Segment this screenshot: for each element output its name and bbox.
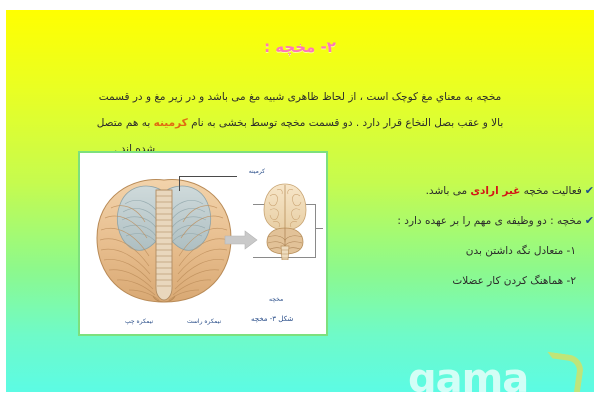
bullet-1-before: فعالیت مخچه — [520, 185, 581, 197]
watermark-text: gama — [408, 356, 528, 392]
points-list: ✔ فعالیت مخچه غیر ارادی می باشد. ✔ مخچه … — [336, 176, 594, 296]
numbered-item-2: ۲- هماهنگ کردن کار عضلات — [336, 266, 594, 296]
cerebellum-illustration — [91, 170, 237, 310]
page-title: ۲- مخچه : — [6, 38, 594, 56]
figure-caption: شکل ۳- مخچه — [251, 315, 293, 323]
check-icon: ✔ — [585, 206, 594, 236]
vermis-leader-line — [179, 176, 237, 191]
keyword-vermis: کرمینه — [154, 117, 188, 129]
bullet-1-after: می باشد. — [426, 185, 471, 197]
brain-illustration — [261, 182, 309, 260]
anatomy-figure: ۳ — [78, 151, 328, 336]
bullet-item-2: ✔ مخچه : دو وظیفه ی مهم را بر عهده دارد … — [336, 206, 594, 236]
paragraph-line-2-before: بالا و عقب بصل النخاع قرار دارد . دو قسم… — [188, 117, 504, 129]
slide-canvas: ۲- مخچه : مخچه به معناي مغ کوچک است ، از… — [6, 10, 594, 392]
figure-label-vermis: کرمینه — [249, 168, 265, 175]
bullet-item-1: ✔ فعالیت مخچه غیر ارادی می باشد. — [336, 176, 594, 206]
check-icon: ✔ — [585, 176, 594, 206]
paragraph-line-2: بالا و عقب بصل النخاع قرار دارد . دو قسم… — [34, 110, 566, 136]
figure-label-cerebellum: مخچه — [269, 296, 283, 303]
watermark: gama — [408, 354, 594, 392]
bullet-1-text: فعالیت مخچه غیر ارادی می باشد. — [426, 176, 582, 206]
keyword-involuntary: غیر ارادی — [470, 185, 520, 197]
numbered-item-1: ۱- متعادل نگه داشتن بدن — [336, 236, 594, 266]
figure-label-left-hemisphere: نیمکره چپ — [125, 318, 153, 325]
paragraph-line-1: مخچه به معناي مغ کوچک است ، از لحاظ ظاهر… — [34, 84, 566, 110]
watermark-swoosh-icon — [541, 352, 585, 392]
figure-label-right-hemisphere: نیمکره راست — [187, 318, 221, 325]
figure-inner: ۳ — [83, 156, 323, 331]
figure-bracket-tick — [315, 228, 323, 229]
bullet-2-text: مخچه : دو وظیفه ی مهم را بر عهده دارد : — [397, 206, 581, 236]
paragraph-line-2-after: به هم متصل — [97, 117, 154, 129]
